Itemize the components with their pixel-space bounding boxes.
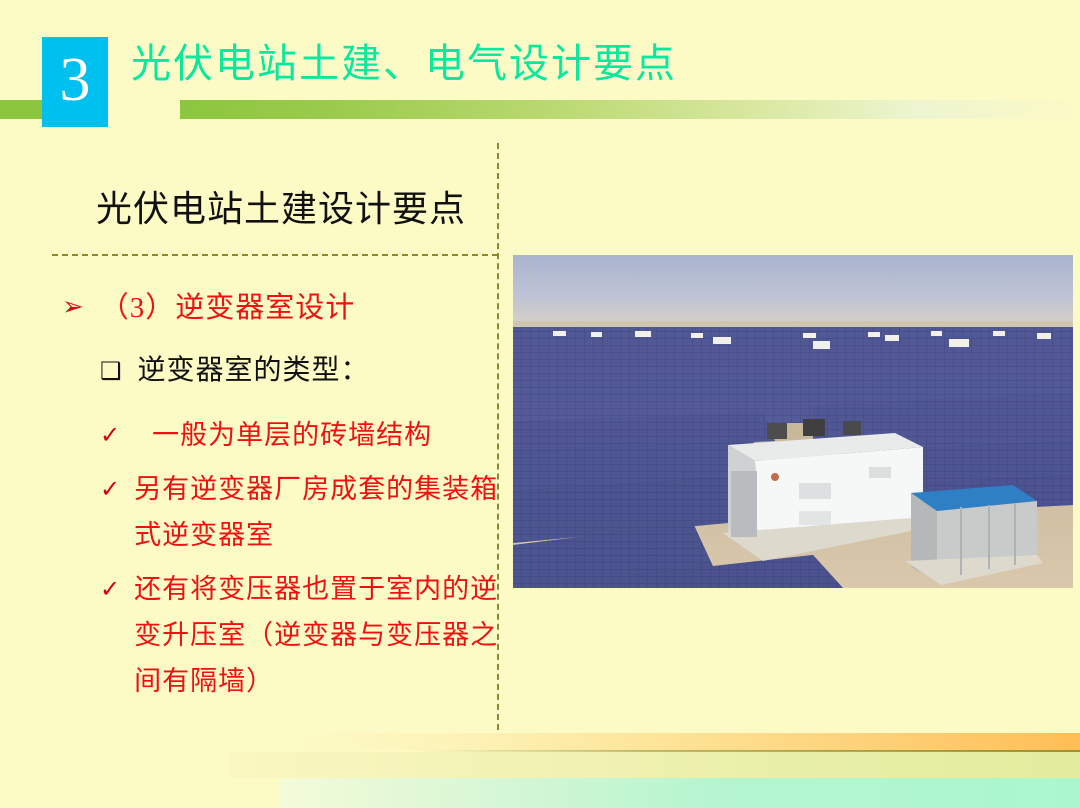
list-item-label: 还有将变压器也置于室内的逆变升压室（逆变器与变压器之间有隔墙） <box>134 566 500 704</box>
accent-bar <box>180 100 1080 119</box>
check-icon: ✓ <box>100 412 120 458</box>
check-icon: ✓ <box>100 466 120 512</box>
bullet-level2-label: 逆变器室的类型： <box>138 352 370 390</box>
horizontal-divider <box>52 254 498 256</box>
square-bullet-icon: ❑ <box>100 352 122 390</box>
list-item: ✓ 还有将变压器也置于室内的逆变升压室（逆变器与变压器之间有隔墙） <box>100 566 500 704</box>
section-heading: 光伏电站土建设计要点 <box>96 185 466 233</box>
photo-solar-plant <box>513 255 1073 588</box>
footer-band-yellow-green <box>230 752 1080 778</box>
list-item-label: 另有逆变器厂房成套的集装箱式逆变器室 <box>134 466 500 558</box>
arrow-bullet-icon: ➢ <box>62 288 84 326</box>
slide-root: 3 光伏电站土建、电气设计要点 光伏电站土建设计要点 ➢ （3）逆变器室设计 ❑… <box>0 0 1080 808</box>
list-item-label: 一般为单层的砖墙结构 <box>134 412 432 458</box>
footer-olive-line <box>420 750 1080 752</box>
list-item: ✓ 另有逆变器厂房成套的集装箱式逆变器室 <box>100 466 500 558</box>
list-item: ✓ 一般为单层的砖墙结构 <box>100 412 500 458</box>
slide-title: 光伏电站土建、电气设计要点 <box>131 38 677 90</box>
bullet-level1: ➢ （3）逆变器室设计 <box>62 288 492 328</box>
accent-bar-stub <box>0 100 42 119</box>
photo-illustration <box>513 255 1073 588</box>
footer-band-mint <box>280 778 1080 808</box>
checklist: ✓ 一般为单层的砖墙结构 ✓ 另有逆变器厂房成套的集装箱式逆变器室 ✓ 还有将变… <box>100 412 500 712</box>
bullet-level2: ❑ 逆变器室的类型： <box>100 352 500 390</box>
section-number-badge: 3 <box>42 37 108 127</box>
section-number-label: 3 <box>60 49 91 111</box>
slide-header: 3 光伏电站土建、电气设计要点 <box>0 0 1080 140</box>
footer-band-orange <box>300 733 1080 751</box>
check-icon: ✓ <box>100 566 120 612</box>
bullet-level1-label: （3）逆变器室设计 <box>100 288 356 328</box>
